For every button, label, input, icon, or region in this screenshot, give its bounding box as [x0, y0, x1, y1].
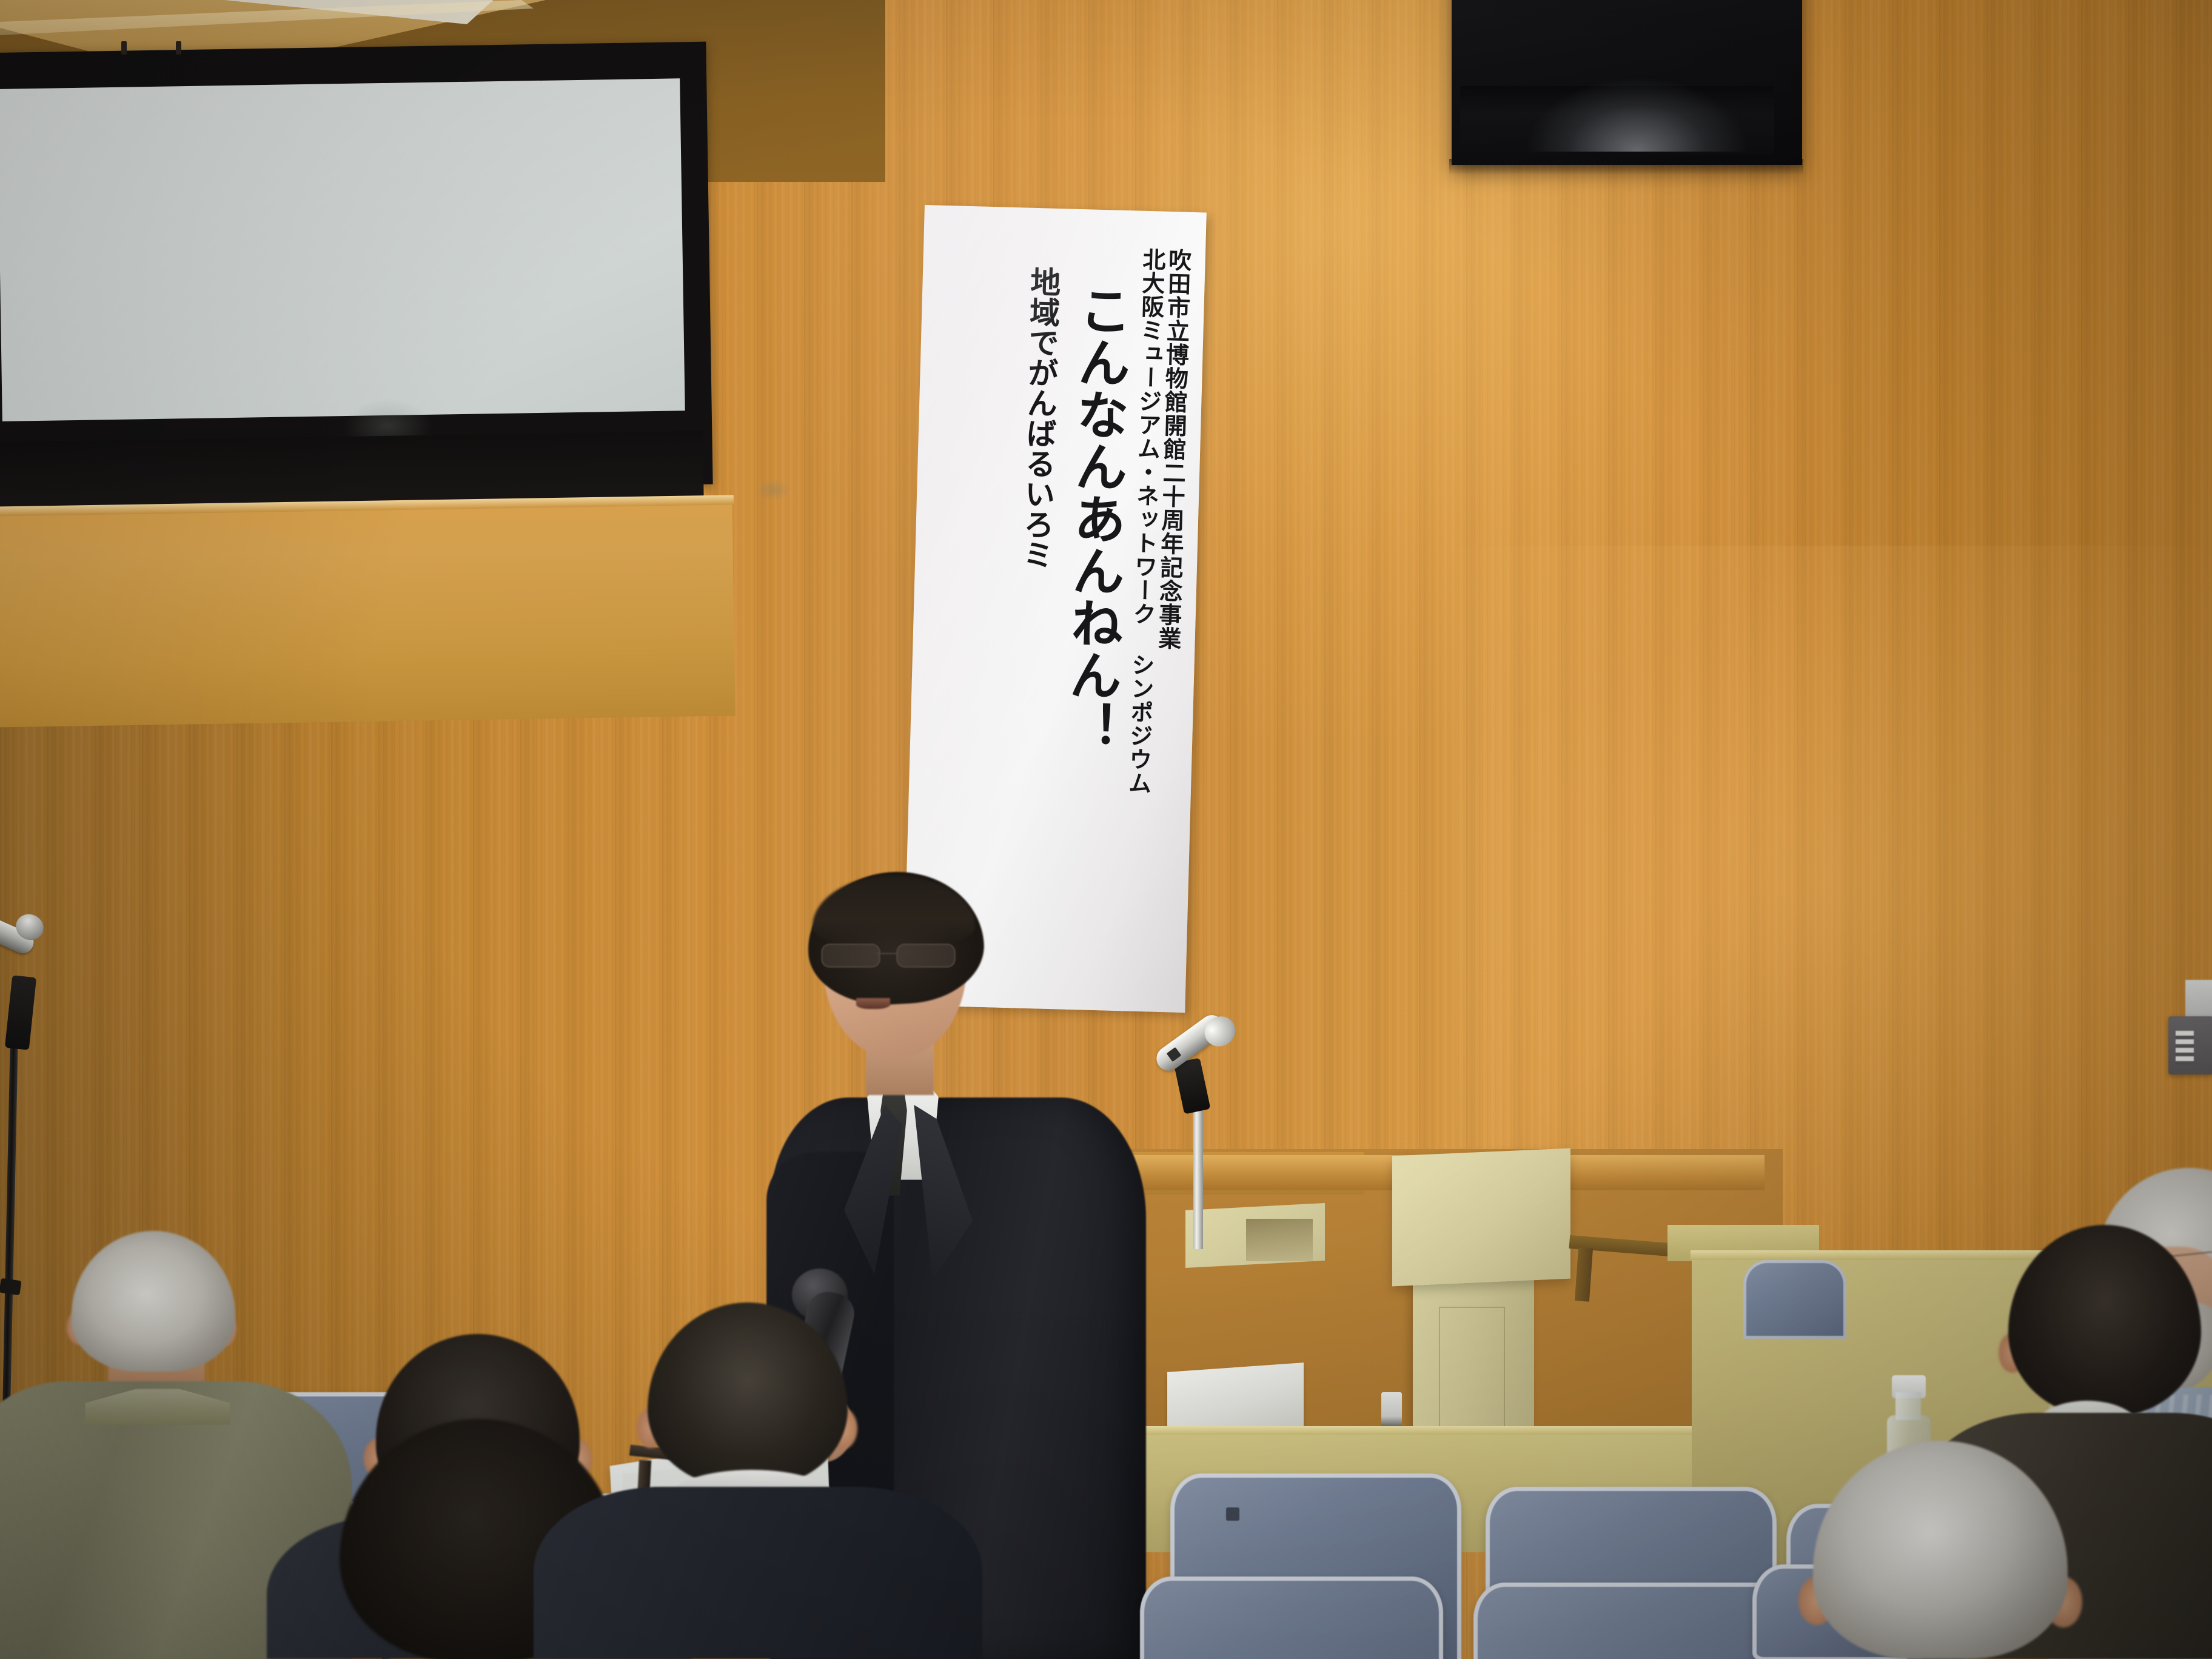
floor-mic-stand-joint	[0, 1278, 22, 1295]
chair	[1743, 1260, 1846, 1339]
lectern-panel-inset	[1439, 1307, 1505, 1439]
presenter-hair-fringe	[813, 876, 975, 948]
chair	[1473, 1583, 1789, 1659]
attendee-dark-suit-center-body	[534, 1487, 982, 1659]
projection-screen-surface	[0, 78, 685, 421]
lectern-reading-board	[1392, 1148, 1570, 1287]
wall-placard-markings	[2176, 1031, 2194, 1065]
screen-smudge-lower	[755, 479, 791, 501]
presenter-mouth	[856, 998, 890, 1009]
photo-scene: YAMAHA 吹田市立博物館開館二十周年記念事業 北大阪ミュージアム・ネットワー…	[0, 0, 2212, 1659]
chair-tag	[1226, 1507, 1239, 1521]
pa-speaker: YAMAHA	[1452, 0, 1802, 165]
speaker-grille	[1460, 86, 1774, 155]
chair	[1140, 1577, 1443, 1659]
screen-mount-hooks	[115, 41, 200, 55]
lectern-shelf-shadow	[1246, 1219, 1313, 1261]
wall-wainscot-panel	[0, 497, 736, 727]
projection-screen-frame	[0, 42, 713, 496]
speaker-cone	[1528, 79, 1746, 152]
presenter-glasses	[819, 943, 970, 965]
